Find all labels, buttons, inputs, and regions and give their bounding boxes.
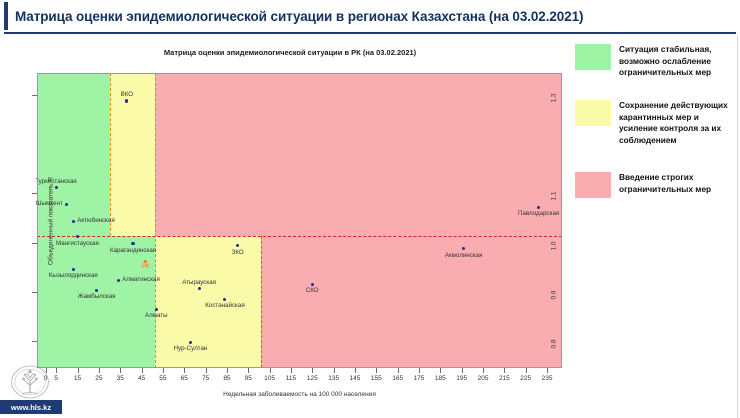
data-point	[311, 283, 314, 286]
threshold-line-incidence-25	[110, 73, 111, 236]
data-point	[117, 279, 120, 282]
data-point-label: Мангистауская	[56, 240, 99, 247]
x-axis-tick	[142, 368, 143, 373]
x-axis-tick-label: 45	[138, 375, 145, 382]
legend-label-red: Введение строгих ограничительных мер	[619, 172, 737, 195]
y-axis-tick-label: 0.9	[551, 290, 558, 299]
data-point-label: Костанайская	[205, 302, 244, 309]
y-axis-tick-label: 1.1	[551, 192, 558, 201]
page-right-border	[737, 36, 738, 418]
x-axis-tick-label: 155	[371, 375, 382, 382]
x-axis-tick	[184, 368, 185, 373]
page-header: Матрица оценки эпидемиологической ситуац…	[0, 0, 740, 36]
data-point	[72, 220, 75, 223]
zone-red-lower	[261, 236, 562, 368]
x-axis-tick-label: 225	[520, 375, 531, 382]
y-axis-label: Объединенный показатель R	[48, 176, 55, 264]
data-point-label: ЗКО	[232, 249, 244, 256]
legend-label-green: Ситуация стабильная, возможно ослабление…	[619, 44, 737, 79]
x-axis-tick	[483, 368, 484, 373]
data-point-label: Атырауская	[182, 279, 216, 286]
legend-item-green: Ситуация стабильная, возможно ослабление…	[575, 44, 737, 79]
x-axis-tick-label: 165	[392, 375, 403, 382]
y-axis-tick	[32, 193, 37, 194]
legend-item-yellow: Сохранение действующих карантинных мер и…	[575, 100, 737, 146]
chart-container: Матрица оценки эпидемиологической ситуац…	[0, 38, 580, 416]
x-axis-tick	[355, 368, 356, 373]
x-axis-tick-label: 125	[307, 375, 318, 382]
legend-item-red: Введение строгих ограничительных мер	[575, 172, 737, 198]
y-axis-tick-label: 0.8	[551, 339, 558, 348]
x-axis-tick	[120, 368, 121, 373]
x-axis-tick	[462, 368, 463, 373]
header-divider	[4, 32, 736, 34]
data-point-label: Туркестанская	[35, 178, 77, 185]
x-axis-tick	[547, 368, 548, 373]
y-axis-tick-label: 1.0	[551, 241, 558, 250]
x-axis-tick-label: 25	[95, 375, 102, 382]
data-point	[55, 186, 58, 189]
legend: Ситуация стабильная, возможно ослабление…	[575, 42, 740, 222]
zone-red-upper	[155, 73, 562, 236]
x-axis-tick	[440, 368, 441, 373]
y-axis-tick	[32, 95, 37, 96]
threshold-line-r-1	[37, 236, 562, 237]
data-point-label: Нур-Султан	[174, 345, 208, 352]
data-point-label: РК	[142, 264, 150, 270]
x-axis-tick-label: 205	[478, 375, 489, 382]
y-axis-tick	[32, 341, 37, 342]
site-url-badge: www.hls.kz	[0, 400, 62, 414]
legend-swatch-green	[575, 44, 611, 70]
data-point-label: Алматы	[145, 312, 168, 319]
data-point-label: Павлодарская	[518, 210, 559, 217]
x-axis-tick	[227, 368, 228, 373]
x-axis-tick-label: 185	[435, 375, 446, 382]
data-point-label: Акмолинская	[445, 252, 483, 259]
x-axis-tick-label: 55	[159, 375, 166, 382]
tree-logo-icon	[8, 362, 52, 402]
y-axis-tick	[32, 292, 37, 293]
zone-green-lower	[37, 236, 155, 368]
x-axis-tick	[504, 368, 505, 373]
x-axis-tick	[248, 368, 249, 373]
threshold-line-incidence-100	[261, 236, 262, 368]
threshold-line-incidence-45	[155, 73, 156, 368]
page-title: Матрица оценки эпидемиологической ситуац…	[8, 9, 583, 24]
x-axis-tick	[99, 368, 100, 373]
x-axis-tick-label: 85	[223, 375, 230, 382]
header-title-bar: Матрица оценки эпидемиологической ситуац…	[4, 2, 740, 30]
data-point-label: Кызылординская	[49, 272, 98, 279]
x-axis-tick-label: 115	[286, 375, 296, 382]
data-point-label: Алматинская	[122, 276, 160, 283]
y-axis-tick	[32, 243, 37, 244]
x-axis-tick	[206, 368, 207, 373]
data-point-label: Актюбинская	[77, 217, 115, 224]
x-axis-tick-label: 195	[456, 375, 467, 382]
x-axis-tick	[270, 368, 271, 373]
x-axis-tick	[312, 368, 313, 373]
x-axis-tick-label: 175	[414, 375, 425, 382]
x-axis-tick	[419, 368, 420, 373]
legend-swatch-yellow	[575, 100, 611, 126]
x-axis-tick-label: 235	[542, 375, 553, 382]
data-point-label: ВКО	[121, 91, 133, 98]
y-axis-tick-label: 1.3	[551, 94, 558, 103]
x-axis-tick	[398, 368, 399, 373]
data-point	[131, 242, 134, 245]
plot-area: ТуркестанскаяШымкентАктюбинскаяМангистау…	[37, 73, 562, 368]
x-axis-tick-label: 75	[202, 375, 209, 382]
x-axis-tick-label: 215	[499, 375, 510, 382]
x-axis-tick	[376, 368, 377, 373]
x-axis-tick	[334, 368, 335, 373]
x-axis-tick-label: 145	[350, 375, 361, 382]
legend-swatch-red	[575, 172, 611, 198]
x-axis-tick	[163, 368, 164, 373]
legend-label-yellow: Сохранение действующих карантинных мер и…	[619, 100, 737, 146]
data-point	[125, 99, 128, 102]
data-point	[72, 268, 75, 271]
data-point-label: Жамбылская	[78, 293, 116, 300]
x-axis-tick-label: 95	[245, 375, 252, 382]
chart-title: Матрица оценки эпидемиологической ситуац…	[0, 48, 580, 57]
x-axis-label: Недельная заболеваемость на 100 000 насе…	[37, 391, 562, 398]
data-point-label: СКО	[306, 287, 319, 294]
x-axis-tick-label: 135	[328, 375, 339, 382]
x-axis-tick-label: 35	[117, 375, 124, 382]
data-point	[537, 206, 540, 209]
data-point-label: Карагандинская	[110, 247, 156, 254]
x-axis-tick-label: 105	[264, 375, 275, 382]
x-axis-tick	[291, 368, 292, 373]
x-axis-tick-label: 65	[181, 375, 188, 382]
x-axis-tick	[526, 368, 527, 373]
